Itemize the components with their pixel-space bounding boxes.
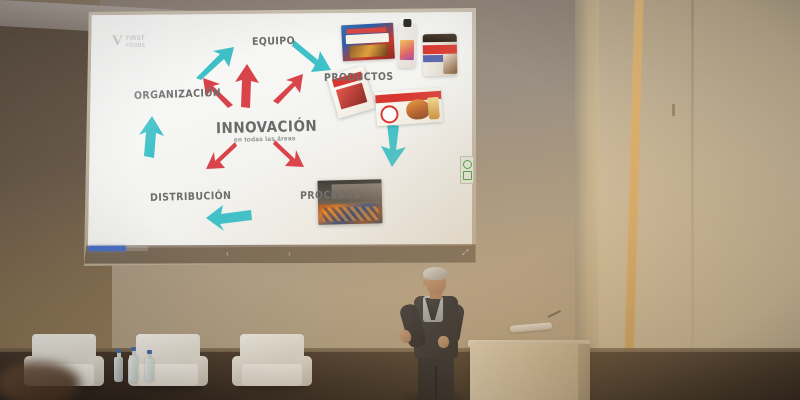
prev-slide-button[interactable]: ‹ <box>226 250 229 258</box>
brand-logo: V FIRST FOODS <box>112 34 156 54</box>
product-image-saber-snack-bag <box>341 23 395 62</box>
progress-fill <box>88 246 126 251</box>
podium: Ciutat Ostellógica Obra Social centre cu… <box>470 344 588 400</box>
slide-label-equipo: EQUIPO <box>252 35 295 48</box>
screen-surface: V FIRST FOODS <box>88 12 472 248</box>
product-image-pouch-pack <box>398 24 417 68</box>
water-bottle <box>129 355 138 382</box>
slide-label-procesos: PROCESOS <box>300 189 361 202</box>
slide-label-distribucion: DISTRIBUCIÓN <box>150 190 232 204</box>
fullscreen-button[interactable]: ⤢ <box>462 248 468 258</box>
arrow-red-up <box>236 64 260 108</box>
presenter-figure <box>398 268 470 400</box>
arrow-teal-up <box>140 116 166 158</box>
foreground-blur <box>0 362 80 400</box>
logo-line-2: FOODS <box>126 43 145 49</box>
arrow-red-up-right <box>272 74 304 104</box>
wall-control-panel[interactable] <box>460 156 474 184</box>
slide-center-title: INNOVACIÓN <box>216 117 318 137</box>
slide-center-subtitle: en todas las áreas <box>234 135 296 144</box>
slide-label-productos: PRODUCTOS <box>324 71 394 84</box>
product-image-burger-pack <box>375 88 443 127</box>
door-handle <box>672 104 675 116</box>
projection-screen: V FIRST FOODS <box>84 8 476 266</box>
logo-mark: V <box>112 34 123 49</box>
product-image-spread-jar <box>423 34 458 77</box>
slide-canvas: V FIRST FOODS <box>88 12 472 248</box>
water-bottle <box>114 357 123 382</box>
water-bottle <box>145 358 154 382</box>
arrow-teal-left <box>206 200 254 228</box>
arrow-teal-down <box>380 124 408 168</box>
water-bottles <box>114 354 160 382</box>
wall-seam <box>691 0 694 400</box>
arrow-teal-up-right <box>194 46 236 80</box>
arrow-teal-down-right <box>294 38 334 74</box>
podium-side-panel <box>578 344 590 400</box>
control-button-icon[interactable] <box>463 171 472 180</box>
arrow-red-down-left <box>204 140 236 170</box>
logo-line-1: FIRST <box>126 36 145 42</box>
process-photo <box>317 179 382 225</box>
next-slide-button[interactable]: › <box>288 250 291 258</box>
status-led-icon <box>463 160 472 169</box>
screenshot-root: V FIRST FOODS <box>0 0 800 400</box>
armchair <box>232 334 314 388</box>
